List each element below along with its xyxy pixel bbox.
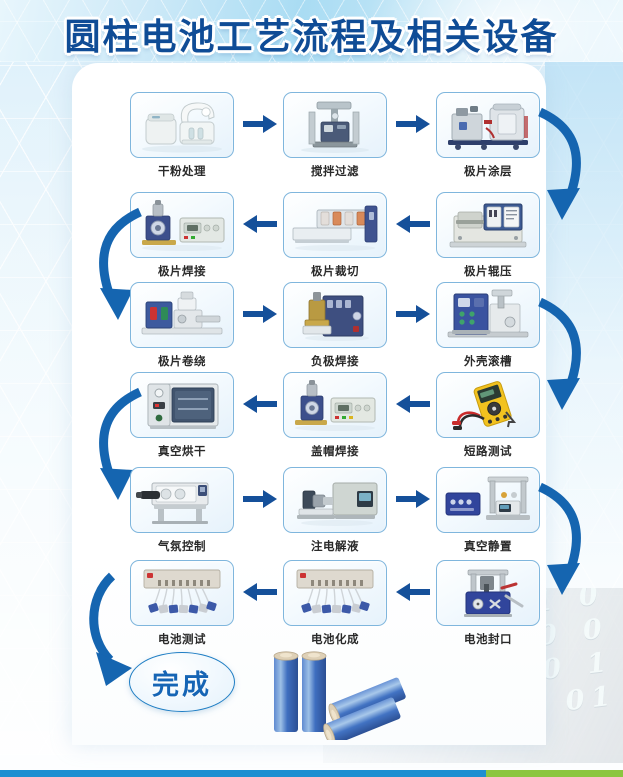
battery-formation-machine-icon: [287, 564, 383, 622]
battery-cells-icon: [258, 648, 408, 740]
arrow-right-icon: [243, 115, 277, 133]
flow-step-image-card: [436, 560, 540, 626]
flow-step-image-card: [436, 372, 540, 438]
electrolyte-filling-machine-icon: [287, 471, 383, 529]
flow-step-label: 真空烘干: [130, 443, 234, 459]
page-title: 圆柱电池工艺流程及相关设备: [0, 8, 623, 60]
flow-step-dry-powder[interactable]: 干粉处理: [130, 92, 236, 179]
battery-sealing-machine-icon: [440, 564, 536, 622]
arrow-right-icon: [243, 490, 277, 508]
flow-step-label: 盖帽焊接: [283, 443, 387, 459]
flow-step-label: 干粉处理: [130, 163, 234, 179]
flow-step-image-card: [436, 92, 540, 158]
glove-box-atmosphere-control-icon: [134, 471, 230, 529]
cylindrical-battery-photo: [258, 648, 408, 740]
arrow-left-icon: [396, 395, 430, 413]
cap-welding-machine-icon: [287, 376, 383, 434]
flow-step-shell-grooving[interactable]: 外壳滚槽: [436, 282, 542, 369]
flow-step-electrode-cutting[interactable]: 极片裁切: [283, 192, 389, 279]
shell-grooving-machine-icon: [440, 286, 536, 344]
flow-step-image-card: [283, 92, 387, 158]
finish-badge[interactable]: 完成: [129, 652, 235, 712]
flow-step-label: 电池封口: [436, 631, 540, 647]
infographic-page: 01 0 1 0 0 1 1 0 10 0 1 0 0 1 0 1 10 0 1…: [0, 0, 623, 777]
flow-step-anode-welding[interactable]: 负极焊接: [283, 282, 389, 369]
flow-step-image-card: [436, 192, 540, 258]
flow-step-electrode-welding[interactable]: 极片焊接: [130, 192, 236, 279]
arrow-left-icon: [243, 215, 277, 233]
arrow-right-icon: [396, 305, 430, 323]
flow-step-electrode-rolling[interactable]: 极片辊压: [436, 192, 542, 279]
flow-step-cap-welding[interactable]: 盖帽焊接: [283, 372, 389, 459]
flow-step-image-card: [130, 92, 234, 158]
flow-step-electrolyte-filling[interactable]: 注电解液: [283, 467, 389, 554]
electrode-cutting-machine-icon: [287, 196, 383, 254]
flow-step-image-card: [283, 192, 387, 258]
flow-step-image-card: [436, 467, 540, 533]
flow-step-image-card: [283, 560, 387, 626]
flow-step-image-card: [130, 282, 234, 348]
vacuum-standing-machine-icon: [440, 471, 536, 529]
electrode-winding-machine-icon: [134, 286, 230, 344]
flow-step-vacuum-standing[interactable]: 真空静置: [436, 467, 542, 554]
curve-connector-down-right-1: [536, 104, 596, 234]
flow-step-label: 电池化成: [283, 631, 387, 647]
flow-step-image-card: [436, 282, 540, 348]
flow-step-atmosphere-control[interactable]: 气氛控制: [130, 467, 236, 554]
arrow-right-icon: [396, 490, 430, 508]
electrode-welding-machine-icon: [134, 196, 230, 254]
arrow-left-icon: [396, 583, 430, 601]
arrow-right-icon: [396, 115, 430, 133]
flow-step-image-card: [130, 372, 234, 438]
flow-step-stir-filter[interactable]: 搅拌过滤: [283, 92, 389, 179]
arrow-left-icon: [243, 395, 277, 413]
curve-connector-down-right-2: [536, 294, 596, 424]
flow-step-label: 外壳滚槽: [436, 353, 540, 369]
flow-step-label: 短路测试: [436, 443, 540, 459]
flow-step-label: 气氛控制: [130, 538, 234, 554]
flow-step-image-card: [283, 282, 387, 348]
flow-step-label: 极片裁切: [283, 263, 387, 279]
vacuum-drying-oven-icon: [134, 376, 230, 434]
bottom-bar-blue-segment: [0, 770, 486, 777]
arrow-left-icon: [243, 583, 277, 601]
flow-step-label: 真空静置: [436, 538, 540, 554]
stirring-filter-machine-icon: [287, 96, 383, 154]
flow-step-label: 极片涂层: [436, 163, 540, 179]
arrow-right-icon: [243, 305, 277, 323]
flow-step-vacuum-drying[interactable]: 真空烘干: [130, 372, 236, 459]
flow-step-label: 注电解液: [283, 538, 387, 554]
flow-step-image-card: [130, 467, 234, 533]
electrode-rolling-press-icon: [440, 196, 536, 254]
flow-step-image-card: [283, 372, 387, 438]
curve-connector-down-right-3: [536, 479, 596, 609]
flow-step-label: 极片辊压: [436, 263, 540, 279]
arrow-left-icon: [396, 215, 430, 233]
flow-step-image-card: [283, 467, 387, 533]
flow-step-short-circuit-test[interactable]: 短路测试: [436, 372, 542, 459]
finish-label: 完成: [152, 663, 212, 702]
flow-step-image-card: [130, 192, 234, 258]
flow-step-label: 极片焊接: [130, 263, 234, 279]
bottom-bar-green-segment: [486, 770, 623, 777]
flow-step-electrode-coating[interactable]: 极片涂层: [436, 92, 542, 179]
dry-powder-mixer-icon: [134, 96, 230, 154]
flow-step-label: 极片卷绕: [130, 353, 234, 369]
multimeter-short-circuit-test-icon: [440, 376, 536, 434]
flow-step-battery-sealing[interactable]: 电池封口: [436, 560, 542, 647]
bottom-color-bar: [0, 770, 623, 777]
anode-welding-machine-icon: [287, 286, 383, 344]
flow-step-battery-formation[interactable]: 电池化成: [283, 560, 389, 647]
flow-step-label: 负极焊接: [283, 353, 387, 369]
flow-step-label: 搅拌过滤: [283, 163, 387, 179]
flow-step-electrode-winding[interactable]: 极片卷绕: [130, 282, 236, 369]
electrode-coating-machine-icon: [440, 96, 536, 154]
